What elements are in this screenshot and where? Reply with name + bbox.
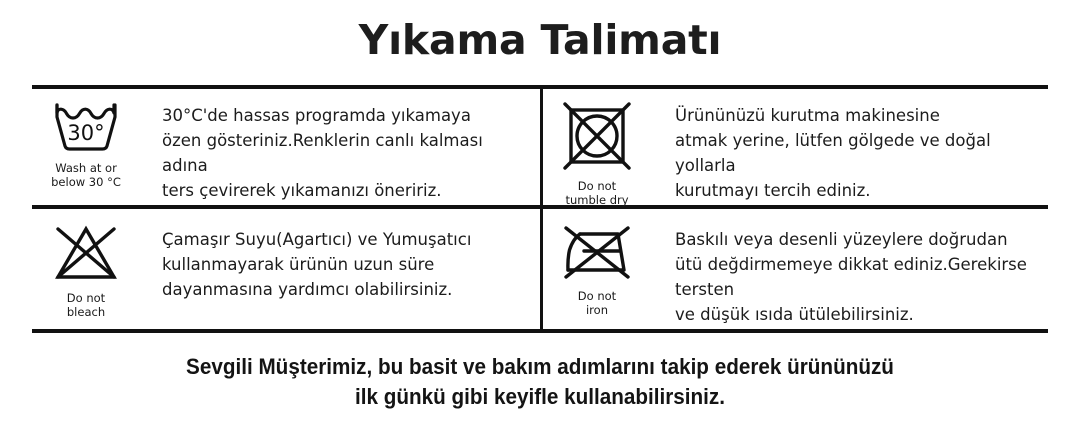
icon-caption-wash: Wash at or below 30 °C	[51, 161, 121, 189]
do-not-tumble-dry-icon	[560, 99, 634, 173]
icon-caption-tumble-dry: Do not tumble dry	[565, 179, 628, 207]
table-row: Do not bleach Çamaşır Suyu(Agartıcı) ve …	[32, 209, 1048, 329]
care-instructions-table: 30° Wash at or below 30 °C 30°C'de hassa…	[32, 85, 1048, 333]
care-text-iron: Baskılı veya desenli yüzeylere doğrudan …	[651, 209, 1048, 327]
wash-temperature-label: 30°	[67, 121, 104, 145]
care-cell-iron: Do not iron Baskılı veya desenli yüzeyle…	[540, 209, 1048, 329]
care-text-bleach: Çamaşır Suyu(Agartıcı) ve Yumuşatıcı kul…	[140, 209, 540, 302]
icon-caption-iron: Do not iron	[578, 289, 616, 317]
do-not-iron-icon	[558, 223, 636, 283]
table-row: 30° Wash at or below 30 °C 30°C'de hassa…	[32, 89, 1048, 209]
icon-block-tumble-dry: Do not tumble dry	[543, 89, 651, 207]
icon-block-iron: Do not iron	[543, 209, 651, 317]
icon-block-wash: 30° Wash at or below 30 °C	[32, 89, 140, 189]
care-cell-tumble-dry: Do not tumble dry Ürününüzü kurutma maki…	[540, 89, 1048, 205]
care-cell-wash: 30° Wash at or below 30 °C 30°C'de hassa…	[32, 89, 540, 205]
wash-tub-30-icon: 30°	[43, 99, 129, 155]
care-text-tumble-dry: Ürününüzü kurutma makinesine atmak yerin…	[651, 89, 1048, 203]
care-text-wash: 30°C'de hassas programda yıkamaya özen g…	[140, 89, 540, 203]
icon-block-bleach: Do not bleach	[32, 209, 140, 319]
icon-caption-bleach: Do not bleach	[67, 291, 105, 319]
page-title: Yıkama Talimatı	[0, 12, 1080, 68]
footer-message: Sevgili Müşterimiz, bu basit ve bakım ad…	[32, 352, 1047, 412]
do-not-bleach-icon	[48, 223, 124, 285]
care-cell-bleach: Do not bleach Çamaşır Suyu(Agartıcı) ve …	[32, 209, 540, 329]
